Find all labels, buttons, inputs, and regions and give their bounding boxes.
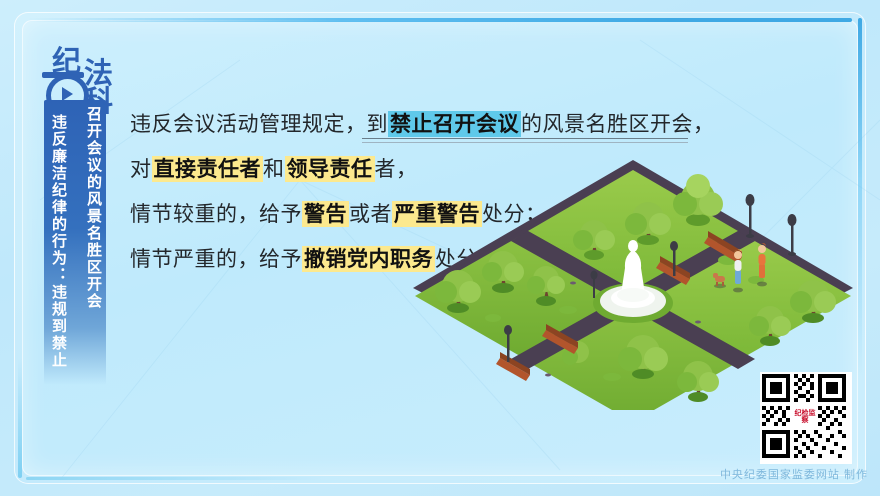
line1-underline xyxy=(362,138,688,139)
line1-post: 的风景名胜区开会， xyxy=(521,112,715,136)
isometric-park-illustration xyxy=(398,140,868,410)
play-triangle-icon xyxy=(62,87,73,101)
frame-accent-bottom xyxy=(26,477,326,480)
vertical-title-banner: 召开会议的风景名胜区开会 违反廉洁纪律的行为：违规到禁止 xyxy=(44,100,106,385)
line2-pre: 对 xyxy=(130,157,152,181)
line3-highlight-1: 警告 xyxy=(302,201,349,227)
frame-accent-left xyxy=(18,358,22,478)
qr-center-logo-text: 纪检监察 xyxy=(793,410,817,424)
qr-center-logo: 纪检监察 xyxy=(793,405,817,429)
banner-column-right: 召开会议的风景名胜区开会 xyxy=(85,106,102,310)
line1-pre: 违反会议活动管理规定，到 xyxy=(130,112,388,136)
line2-highlight-2: 领导责任 xyxy=(285,156,375,182)
line1-highlight: 禁止召开会议 xyxy=(388,111,521,137)
brand-logo: 纪 法 科 xyxy=(36,40,122,106)
line4-pre: 情节严重的，给予 xyxy=(130,247,302,271)
poster-canvas: 纪 法 科 召开会议的风景名胜区开会 违反廉洁纪律的行为：违规到禁止 违反会议活… xyxy=(0,0,880,496)
qr-code[interactable]: 纪检监察 xyxy=(760,372,852,464)
line3-pre: 情节较重的，给予 xyxy=(130,202,302,226)
banner-column-left: 违反廉洁纪律的行为：违规到禁止 xyxy=(50,114,67,369)
line2-highlight-1: 直接责任者 xyxy=(152,156,264,182)
frame-accent-top xyxy=(28,18,852,22)
credit-line: 中央纪委国家监委网站 制作 xyxy=(700,466,868,482)
line3-mid: 或者 xyxy=(349,202,392,226)
line2-mid: 和 xyxy=(263,157,285,181)
